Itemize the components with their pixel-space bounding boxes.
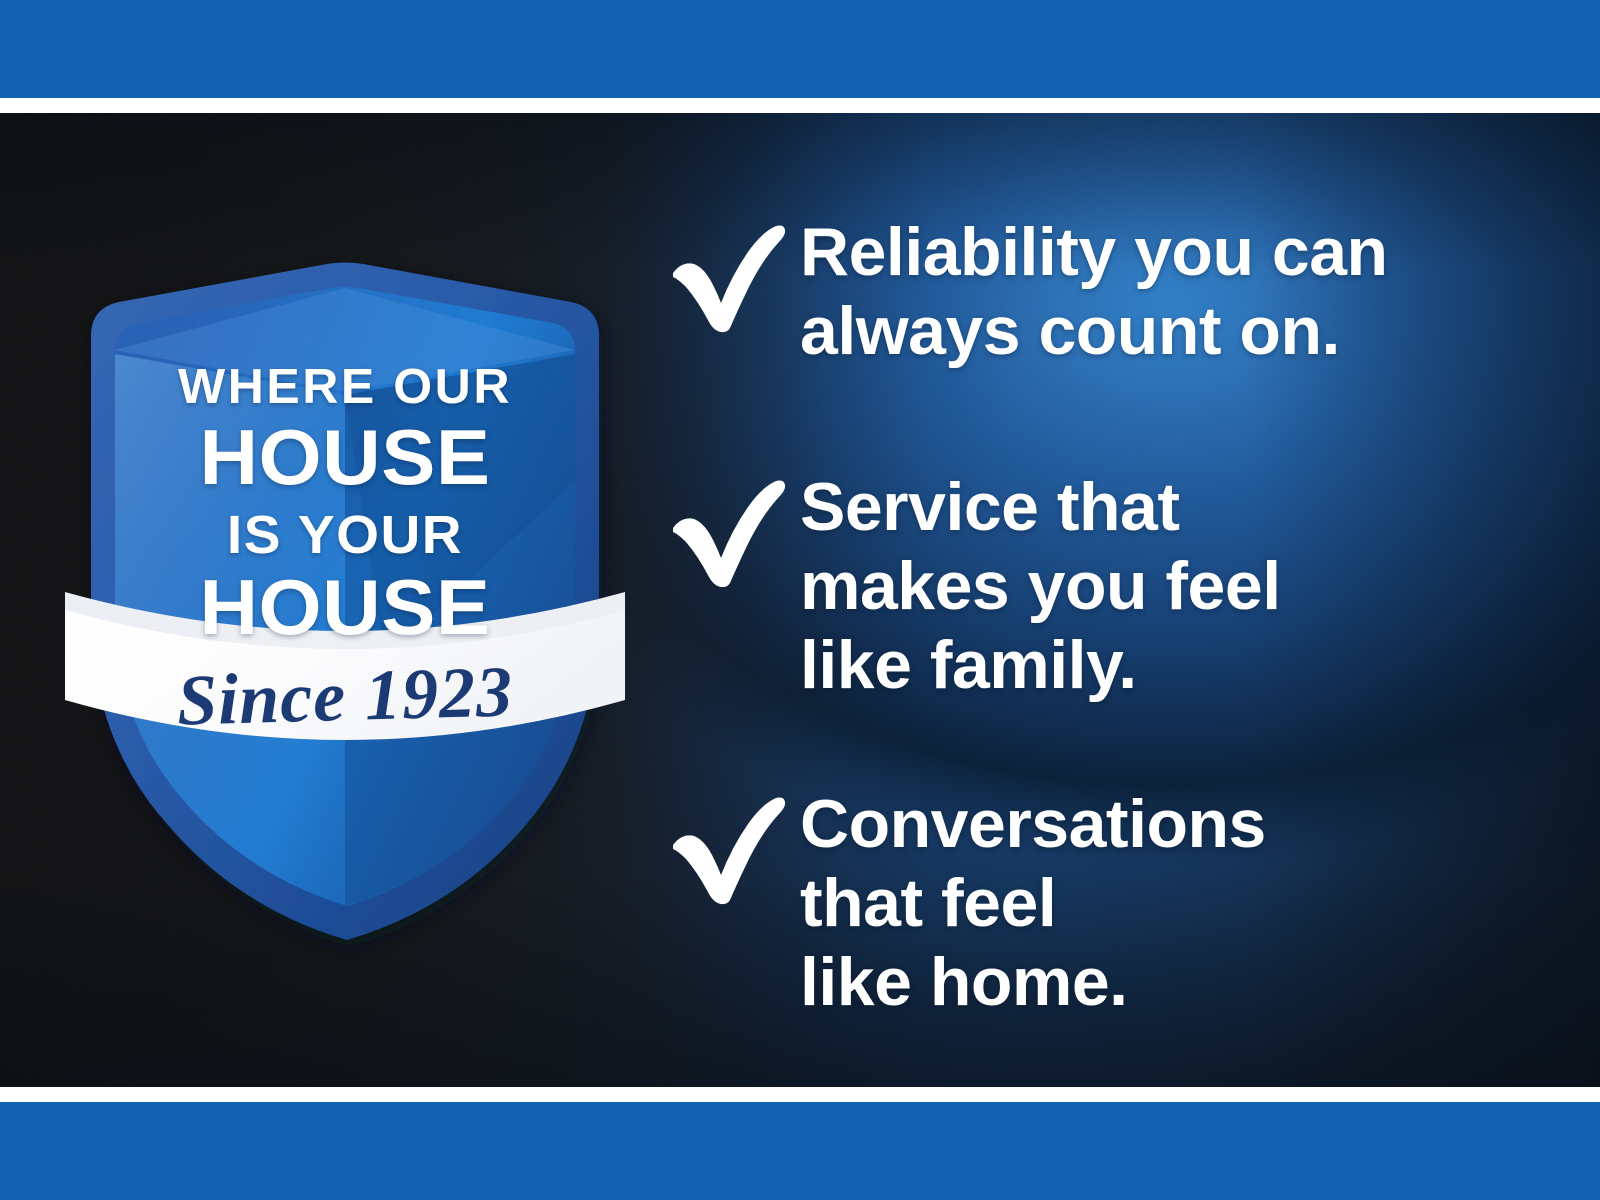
checkmark-icon (668, 213, 800, 333)
checkmark-icon (668, 468, 800, 588)
list-item: Conversations that feel like home. (668, 785, 1548, 1022)
list-item-label: Reliability you can always count on. (800, 213, 1548, 371)
list-item: Reliability you can always count on. (668, 213, 1548, 371)
benefits-list: Reliability you can always count on. Ser… (668, 113, 1548, 1087)
list-item-label: Service that makes you feel like family. (800, 468, 1548, 705)
shield-badge: WHERE OUR HOUSE IS YOUR HOUSE Since 1923 (55, 140, 635, 960)
bottom-white-divider (0, 1087, 1600, 1102)
promo-graphic: WHERE OUR HOUSE IS YOUR HOUSE Since 1923… (0, 0, 1600, 1200)
checkmark-icon (668, 785, 800, 905)
list-item: Service that makes you feel like family. (668, 468, 1548, 705)
top-brand-bar (0, 0, 1600, 98)
bottom-brand-bar (0, 1102, 1600, 1200)
shield-graphic (55, 140, 635, 960)
top-white-divider (0, 98, 1600, 113)
list-item-label: Conversations that feel like home. (800, 785, 1548, 1022)
